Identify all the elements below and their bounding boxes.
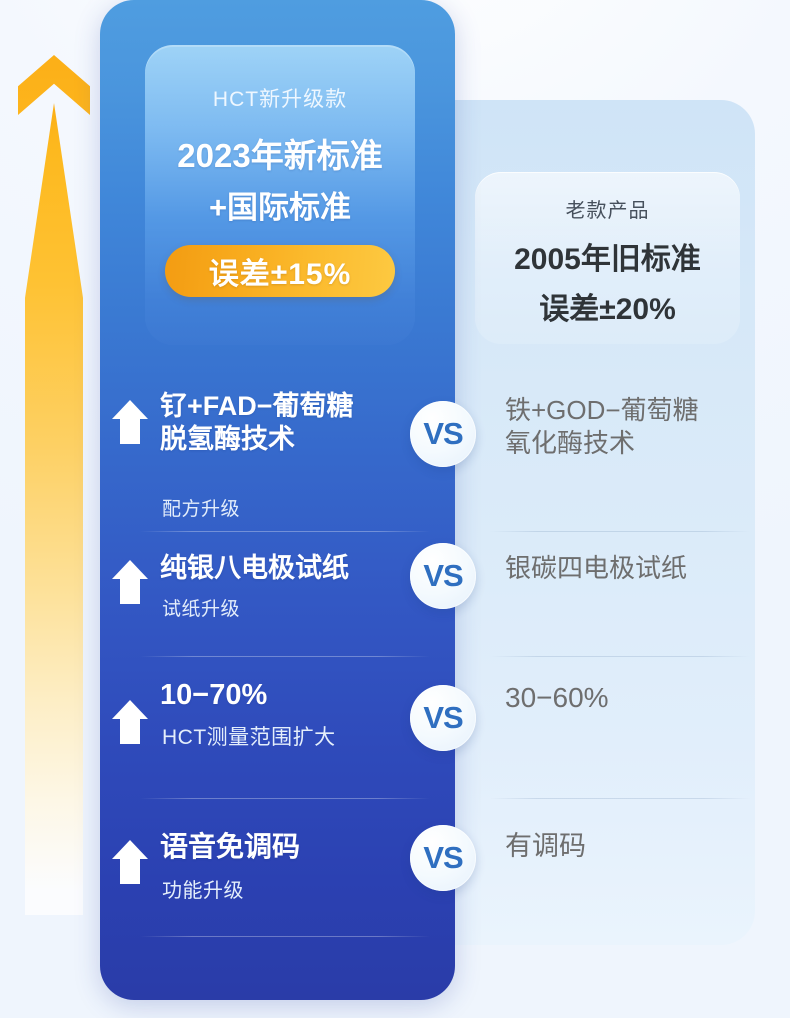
row-new-main-line1: 10−70%: [160, 678, 410, 713]
row-new-main-line1: 钌+FAD−葡萄糖: [160, 390, 410, 423]
row-old-main: 银碳四电极试纸: [505, 552, 760, 585]
up-arrow-icon: [110, 838, 150, 886]
row-new-note: 功能升级: [162, 874, 244, 903]
row-old-main-line1: 铁+GOD−葡萄糖: [505, 394, 760, 427]
growth-arrow-shaft: [25, 103, 83, 915]
up-arrow-icon: [110, 398, 150, 446]
row-old-main-line1: 30−60%: [505, 680, 760, 715]
row-new-note: 配方升级: [162, 494, 240, 521]
accuracy-badge-label: 误差±15%: [209, 249, 352, 293]
row-divider-left: [140, 656, 430, 657]
row-new-note: HCT测量范围扩大: [162, 721, 336, 751]
row-old-main-line2: 氧化酶技术: [505, 427, 760, 460]
row-new-main: 语音免调码: [160, 830, 410, 864]
new-product-header-card: HCT新升级款 2023年新标准 +国际标准 误差±15%: [145, 45, 415, 345]
row-new-note: 试纸升级: [162, 594, 240, 621]
row-old-main-line1: 有调码: [505, 830, 760, 864]
row-divider-left: [140, 531, 430, 532]
old-product-eyebrow: 老款产品: [475, 194, 740, 223]
row-new-main-line2: 脱氢酶技术: [160, 423, 410, 456]
row-old-main-line1: 银碳四电极试纸: [505, 552, 760, 585]
new-product-title: 2023年新标准: [145, 129, 415, 177]
vs-label: VS: [423, 558, 462, 594]
row-old-main: 30−60%: [505, 680, 760, 715]
old-product-header-card: 老款产品 2005年旧标准 误差±20%: [475, 172, 740, 344]
row-old-main: 铁+GOD−葡萄糖 氧化酶技术: [505, 394, 760, 459]
accuracy-badge: 误差±15%: [165, 245, 395, 297]
vs-badge: VS: [410, 825, 476, 891]
old-product-panel: 老款产品 2005年旧标准 误差±20%: [450, 100, 755, 945]
row-new-main-line1: 语音免调码: [160, 830, 410, 864]
up-arrow-icon: [110, 558, 150, 606]
row-divider-right: [490, 656, 750, 657]
new-product-eyebrow: HCT新升级款: [145, 83, 415, 113]
vs-label: VS: [423, 840, 462, 876]
row-new-main: 钌+FAD−葡萄糖 脱氢酶技术: [160, 390, 410, 456]
old-product-title: 2005年旧标准: [475, 234, 740, 278]
row-divider-left: [140, 936, 430, 937]
row-old-main: 有调码: [505, 830, 760, 864]
growth-arrow: [18, 55, 90, 915]
old-product-subtitle: 误差±20%: [475, 284, 740, 328]
row-new-main: 10−70%: [160, 678, 410, 713]
vs-badge: VS: [410, 543, 476, 609]
vs-label: VS: [423, 416, 462, 452]
vs-badge: VS: [410, 685, 476, 751]
row-divider-right: [490, 798, 750, 799]
vs-label: VS: [423, 700, 462, 736]
row-new-main: 纯银八电极试纸: [160, 552, 410, 585]
infographic-stage: 老款产品 2005年旧标准 误差±20% HCT新升级款 2023年新标准 +国…: [0, 0, 790, 1018]
new-product-subtitle: +国际标准: [145, 182, 415, 227]
row-divider-right: [490, 531, 750, 532]
row-divider-left: [140, 798, 430, 799]
up-arrow-icon: [110, 698, 150, 746]
vs-badge: VS: [410, 401, 476, 467]
row-new-main-line1: 纯银八电极试纸: [160, 552, 410, 585]
